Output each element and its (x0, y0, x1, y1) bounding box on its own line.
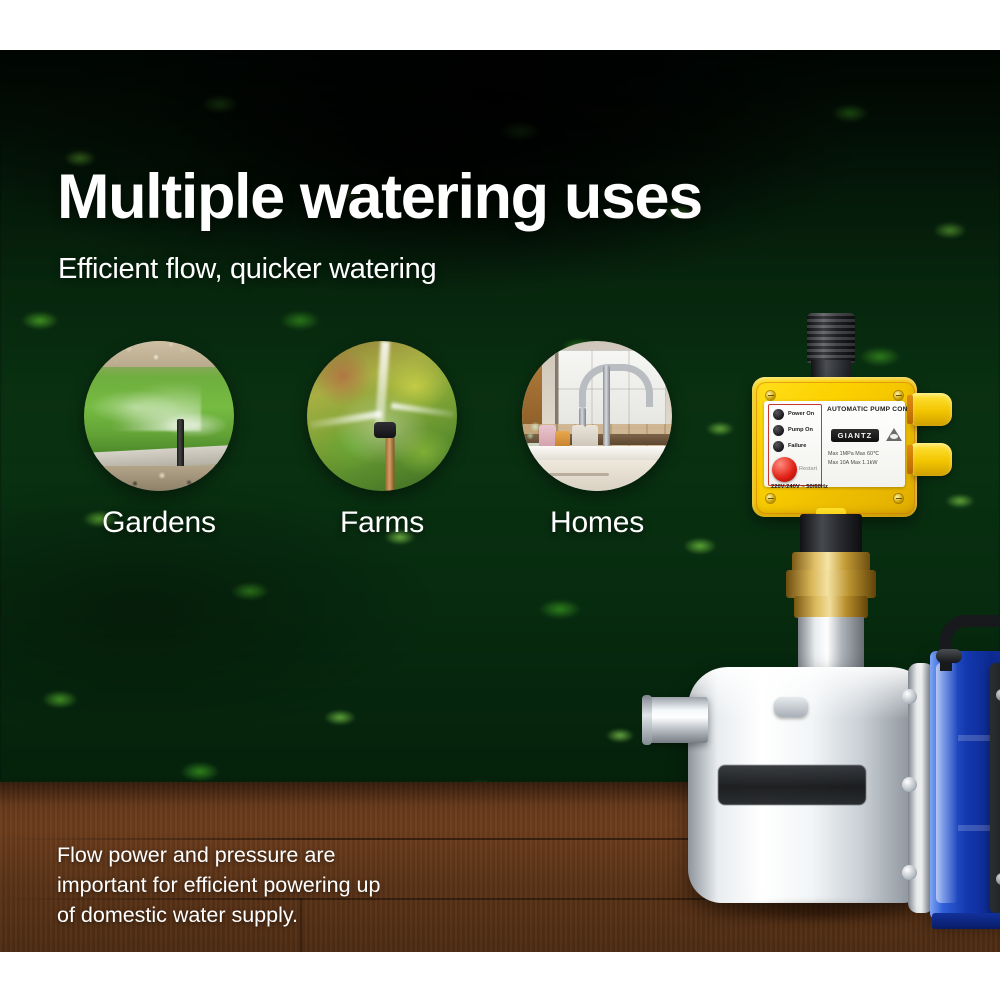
black-collar (800, 514, 862, 554)
cable-gland-lower (912, 443, 952, 476)
fill-cap (774, 697, 808, 717)
controller-screw (766, 494, 775, 503)
brass-union-lower (794, 596, 868, 618)
restart-label: Restart (799, 466, 817, 472)
controller-screw (894, 391, 903, 400)
voltage-rating: 220V-240V ~ 50/60Hz (771, 484, 828, 490)
brand-name: GIANTZ (838, 431, 873, 440)
handle-end (936, 649, 962, 663)
feature-farms: Farms (307, 341, 457, 540)
controller-screw (894, 494, 903, 503)
field-sprinkler-icon (307, 341, 457, 491)
inlet-port (646, 697, 708, 743)
threaded-cap (807, 313, 855, 363)
brass-union-middle (786, 570, 876, 598)
page-title: Multiple watering uses (57, 166, 702, 229)
led-indicator-group: Power On Pump On Failure Restart 220V-24… (768, 404, 822, 486)
water-pump-product: AUTOMATIC PUMP CONTROL Power On Pump On … (640, 265, 1000, 952)
controller-label: AUTOMATIC PUMP CONTROL Power On Pump On … (764, 401, 905, 487)
power-on-led (773, 409, 784, 420)
gardens-circle-image (84, 341, 234, 491)
housing-dark-band (718, 765, 866, 805)
failure-label: Failure (788, 443, 806, 449)
lawn-sprinkler-icon (84, 341, 234, 491)
spec-line-2: Max 10A Max 1.1kW (828, 460, 877, 466)
wet-patch (712, 901, 922, 923)
feature-gardens: Gardens (84, 341, 234, 540)
feature-label-farms: Farms (307, 506, 457, 540)
pump-on-led (773, 425, 784, 436)
inlet-lip (642, 695, 652, 745)
failure-led (773, 441, 784, 452)
photo-band: Multiple watering uses Efficient flow, q… (0, 50, 1000, 952)
page-subtitle: Efficient flow, quicker watering (58, 253, 436, 286)
product-marketing-image: Multiple watering uses Efficient flow, q… (0, 0, 1000, 1000)
motor-highlight (936, 663, 958, 903)
brass-union-upper (792, 552, 870, 572)
body-copy: Flow power and pressure are important fo… (57, 840, 387, 930)
compliance-mark-icon (886, 428, 902, 441)
flange-bolt (902, 865, 917, 880)
brand-logo: GIANTZ (831, 429, 879, 442)
flange-bolt (902, 777, 917, 792)
controller-screw (766, 391, 775, 400)
restart-button[interactable] (772, 457, 797, 482)
power-on-label: Power On (788, 411, 814, 417)
flange-bolt (902, 689, 917, 704)
spec-line-1: Max 1MPa Max 60℃ (828, 451, 879, 457)
motor-foot (932, 913, 1000, 929)
farms-circle-image (307, 341, 457, 491)
feature-label-gardens: Gardens (84, 506, 234, 540)
pump-on-label: Pump On (788, 427, 813, 433)
cable-gland-upper (912, 393, 952, 426)
